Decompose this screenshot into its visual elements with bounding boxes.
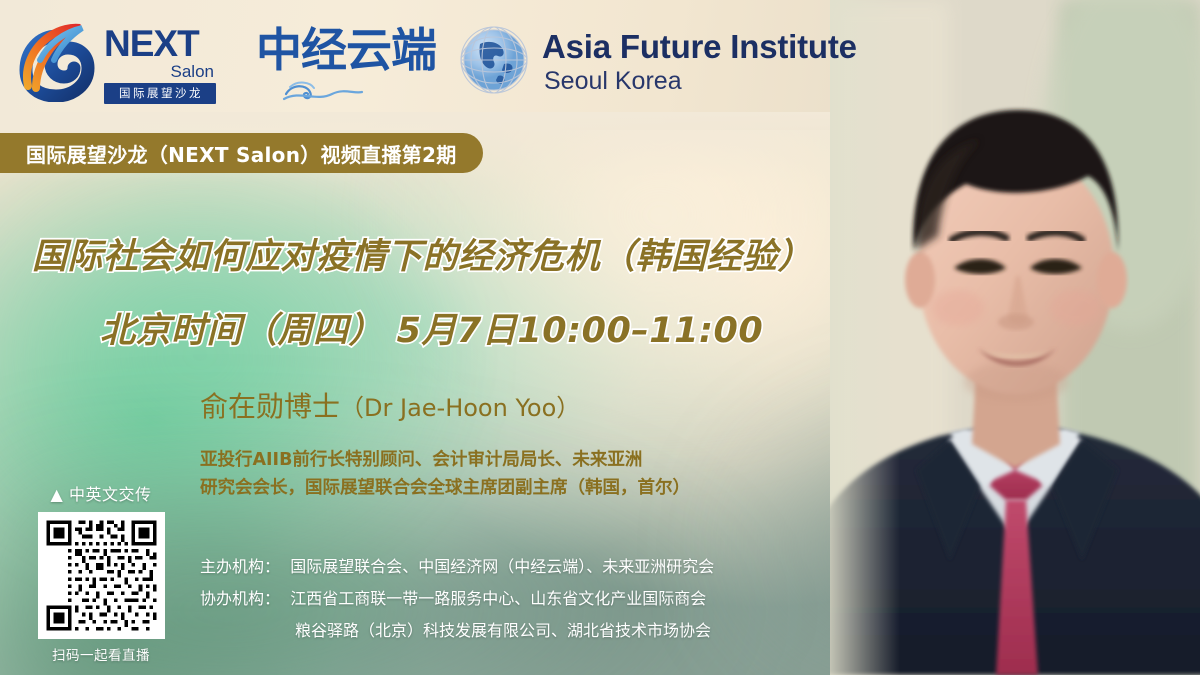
host-value: 国际展望联合会、中国经济网（中经云端）、未来亚洲研究会 <box>290 557 714 576</box>
poster-title: 国际社会如何应对疫情下的经济危机（韩国经验） <box>32 228 813 279</box>
cloud-wave-icon <box>282 72 378 102</box>
afi-subtitle: Seoul Korea <box>544 67 682 95</box>
qr-code-icon[interactable] <box>38 512 165 639</box>
next-salon-word: Salon <box>104 63 216 81</box>
coorganizer-line-2: 粮谷驿路（北京）科技发展有限公司、湖北省技术市场协会 <box>200 615 714 647</box>
qr-caption-bottom: 扫码一起看直播 <box>22 646 180 666</box>
next-word: NEXT <box>104 24 216 64</box>
logo-next-salon: NEXT Salon 国际展望沙龙 <box>18 18 218 106</box>
poster-datetime: 北京时间（周四） 5月7日10:00–11:00 <box>100 302 763 353</box>
logo-row: NEXT Salon 国际展望沙龙 中经云端 <box>0 0 1200 120</box>
speaker-name-cn: 俞在勋博士 <box>200 390 340 423</box>
speaker-bio: 亚投行AIIB前行长特别顾问、会计审计局局长、未来亚洲 研究会会长，国际展望联合… <box>200 446 690 502</box>
afi-name: Asia Future Institute <box>542 28 857 66</box>
coorganizer-value-1: 江西省工商联一带一路服务中心、山东省文化产业国际商会 <box>290 589 706 608</box>
next-swirl-icon <box>18 22 98 102</box>
coorganizer-label: 协办机构： <box>200 589 280 608</box>
next-chinese-bar: 国际展望沙龙 <box>104 83 216 104</box>
globe-icon <box>458 24 534 100</box>
host-line: 主办机构： 国际展望联合会、中国经济网（中经云端）、未来亚洲研究会 <box>200 551 714 583</box>
coorganizer-value-2: 粮谷驿路（北京）科技发展有限公司、湖北省技术市场协会 <box>295 621 711 640</box>
speaker-name: 俞在勋博士（Dr Jae-Hoon Yoo） <box>200 385 580 425</box>
speaker-bio-line-2: 研究会会长，国际展望联合会全球主席团副主席（韩国，首尔） <box>200 474 690 502</box>
coorganizer-line-1: 协办机构： 江西省工商联一带一路服务中心、山东省文化产业国际商会 <box>200 583 714 615</box>
series-banner-label: 国际展望沙龙（NEXT Salon）视频直播第2期 <box>26 139 457 168</box>
next-wordmark: NEXT Salon 国际展望沙龙 <box>104 24 216 104</box>
series-banner: 国际展望沙龙（NEXT Salon）视频直播第2期 <box>0 133 483 173</box>
logo-asia-future-institute: Asia Future Institute Seoul Korea <box>458 20 858 106</box>
qr-block: ▲ 中英文交传 <box>22 484 180 666</box>
speaker-name-en: （Dr Jae-Hoon Yoo） <box>340 394 580 422</box>
webinar-poster: NEXT Salon 国际展望沙龙 中经云端 <box>0 0 1200 675</box>
organizers-block: 主办机构： 国际展望联合会、中国经济网（中经云端）、未来亚洲研究会 协办机构： … <box>200 551 714 647</box>
qr-caption-top: ▲ 中英文交传 <box>22 484 180 506</box>
logo-zhongjing-yunduan: 中经云端 <box>256 24 436 102</box>
speaker-bio-line-1: 亚投行AIIB前行长特别顾问、会计审计局局长、未来亚洲 <box>200 446 690 474</box>
host-label: 主办机构： <box>200 557 280 576</box>
zhongjing-wordmark: 中经云端 <box>256 24 436 76</box>
